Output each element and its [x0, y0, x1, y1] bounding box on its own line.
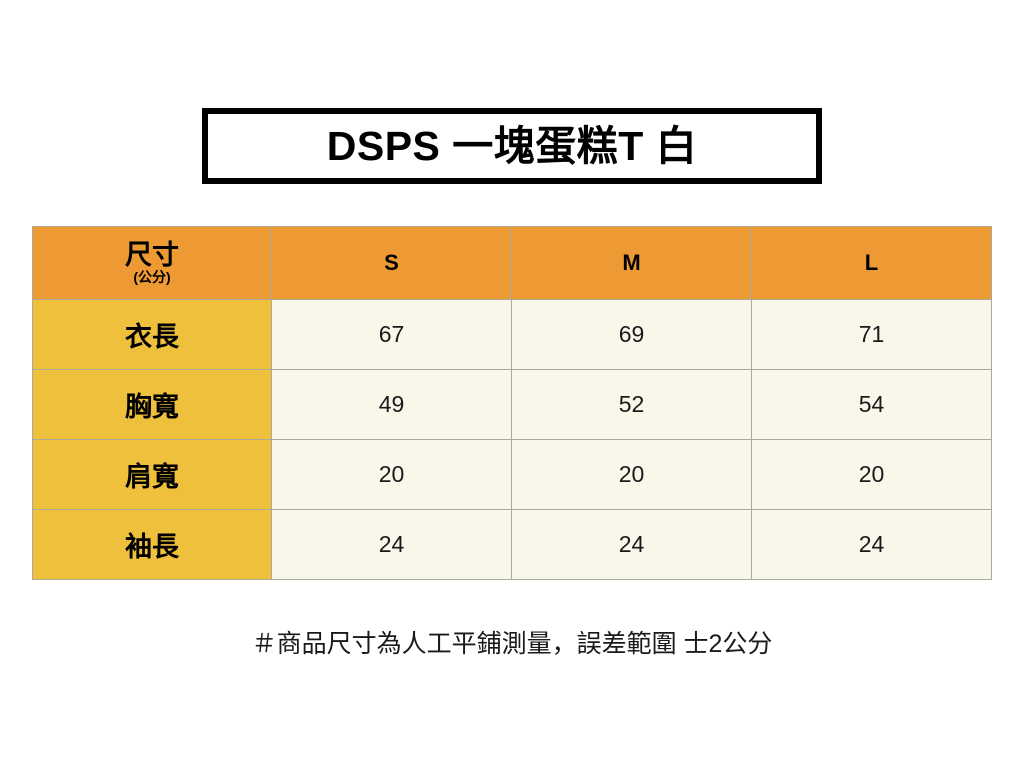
cell-chest-width-m: 52 [512, 370, 752, 440]
dimension-header-cell: 尺寸 (公分) [33, 227, 272, 300]
row-label-chest-width: 胸寬 [33, 370, 272, 440]
cell-chest-width-s: 49 [272, 370, 512, 440]
cell-chest-width-l: 54 [752, 370, 992, 440]
product-title: DSPS 一塊蛋糕T 白 [327, 126, 697, 167]
cell-sleeve-length-m: 24 [512, 510, 752, 580]
table-header-row: 尺寸 (公分) S M L [33, 227, 992, 300]
cell-sleeve-length-l: 24 [752, 510, 992, 580]
size-header-l: L [752, 227, 992, 300]
table-row: 衣長 67 69 71 [33, 300, 992, 370]
product-title-box: DSPS 一塊蛋糕T 白 [202, 108, 822, 184]
size-header-m: M [512, 227, 752, 300]
size-header-s: S [272, 227, 512, 300]
size-header-s-label: S [384, 250, 399, 275]
cell-body-length-s: 67 [272, 300, 512, 370]
cell-shoulder-width-l: 20 [752, 440, 992, 510]
dimension-header-unit: (公分) [33, 270, 271, 285]
row-label-sleeve-length: 袖長 [33, 510, 272, 580]
row-label-shoulder-width: 肩寬 [33, 440, 272, 510]
size-chart-table: 尺寸 (公分) S M L 衣長 67 69 71 胸寬 49 52 54 [32, 226, 992, 580]
size-header-m-label: M [622, 250, 640, 275]
table-row: 肩寬 20 20 20 [33, 440, 992, 510]
cell-sleeve-length-s: 24 [272, 510, 512, 580]
table-row: 袖長 24 24 24 [33, 510, 992, 580]
measurement-footnote: ＃商品尺寸為人工平鋪測量，誤差範圍 士2公分 [0, 624, 1024, 660]
size-header-l-label: L [865, 250, 878, 275]
row-label-body-length: 衣長 [33, 300, 272, 370]
table-row: 胸寬 49 52 54 [33, 370, 992, 440]
cell-body-length-m: 69 [512, 300, 752, 370]
cell-shoulder-width-m: 20 [512, 440, 752, 510]
dimension-header-label: 尺寸 [33, 241, 271, 269]
cell-shoulder-width-s: 20 [272, 440, 512, 510]
cell-body-length-l: 71 [752, 300, 992, 370]
